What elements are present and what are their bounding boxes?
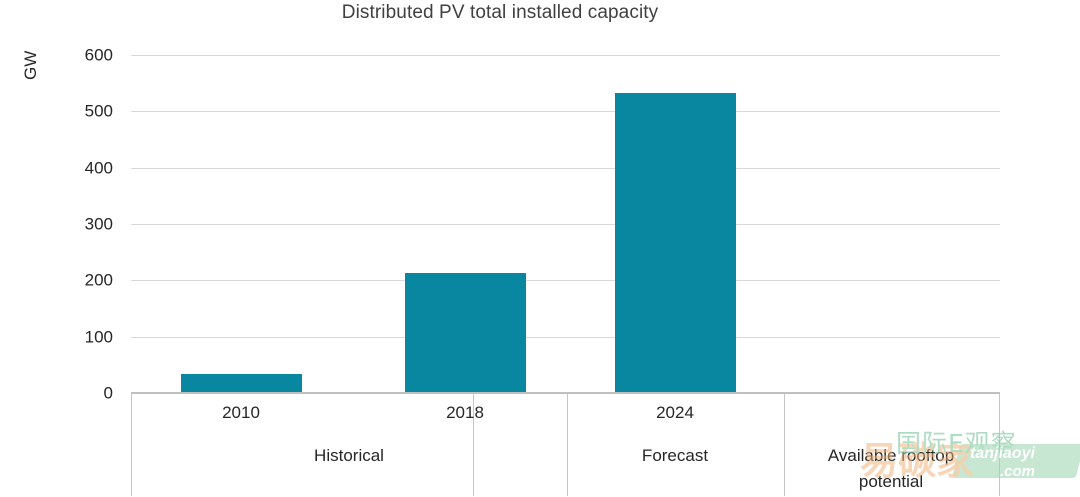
gridline-400 <box>131 168 1000 169</box>
y-tick-200: 200 <box>85 272 113 289</box>
y-tick-500: 500 <box>85 103 113 120</box>
group-label-forecast: Forecast <box>642 443 708 469</box>
x-tick-2010: 2010 <box>222 403 260 423</box>
bar-2018[interactable] <box>405 273 526 393</box>
y-axis-tick-labels: 600 500 400 300 200 100 0 <box>0 55 131 393</box>
gridline-500 <box>131 111 1000 112</box>
gridline-200 <box>131 280 1000 281</box>
bar-chart: Distributed PV total installed capacity … <box>0 0 1080 497</box>
y-tick-0: 0 <box>104 385 113 402</box>
category-divider-right <box>999 394 1000 496</box>
category-table: 2010 2018 2024 Historical Forecast Avail… <box>131 394 1000 496</box>
gridline-600 <box>131 55 1000 56</box>
category-divider-left <box>131 394 132 496</box>
group-label-available-rooftop-potential: Available rooftoppotential <box>791 443 991 495</box>
bar-2010[interactable] <box>181 374 302 393</box>
y-tick-600: 600 <box>85 47 113 64</box>
y-tick-400: 400 <box>85 159 113 176</box>
group-label-line2: potential <box>859 472 923 491</box>
group-label-line1: Available rooftop <box>828 446 954 465</box>
chart-title: Distributed PV total installed capacity <box>0 2 1000 24</box>
plot-area <box>131 55 1000 393</box>
x-tick-2024: 2024 <box>656 403 694 423</box>
category-divider-forecast-potential <box>784 394 785 496</box>
gridline-300 <box>131 224 1000 225</box>
y-tick-300: 300 <box>85 216 113 233</box>
watermark-domain-line2: .com <box>1000 463 1035 480</box>
category-divider-historical-forecast <box>567 394 568 496</box>
group-label-historical: Historical <box>314 443 384 469</box>
y-tick-100: 100 <box>85 328 113 345</box>
bar-2024[interactable] <box>615 93 736 393</box>
x-tick-2018: 2018 <box>446 403 484 423</box>
gridline-100 <box>131 337 1000 338</box>
